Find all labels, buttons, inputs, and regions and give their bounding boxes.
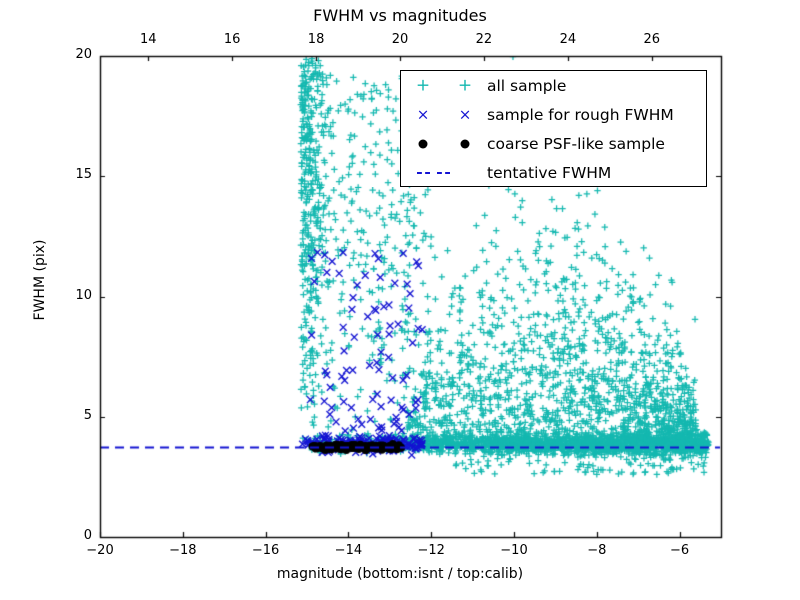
y-axis-label: FWHM (pix) [32,180,48,380]
dashed-line-icon [417,172,430,174]
x-tick-label-top: 22 [444,32,524,47]
x-axis-label: magnitude (bottom:isnt / top:calib) [0,566,800,582]
legend-swatch-tentative-fwhm [401,158,487,187]
cross-icon: × [417,107,430,122]
dot-icon [461,139,470,148]
x-tick-label-top: 20 [360,32,440,47]
y-tick-label: 10 [34,288,92,303]
plus-icon: + [416,77,430,94]
legend-label: tentative FWHM [487,164,611,182]
x-tick-label-top: 24 [528,32,608,47]
x-tick-label-bottom: −14 [308,543,388,558]
x-tick-label-bottom: −8 [557,543,637,558]
x-tick-label-top: 18 [276,32,356,47]
page-title: FWHM vs magnitudes [0,6,800,25]
x-tick-label-bottom: −10 [474,543,554,558]
legend-item-rough-fwhm[interactable]: × × sample for rough FWHM [401,100,706,129]
y-tick-label: 0 [34,528,92,543]
y-tick-label: 5 [34,408,92,423]
legend-swatch-all-sample: + + [401,71,487,100]
legend-swatch-rough-fwhm: × × [401,100,487,129]
legend-item-coarse-psf[interactable]: coarse PSF-like sample [401,129,706,158]
x-tick-label-bottom: −16 [226,543,306,558]
y-tick-label: 15 [34,167,92,182]
legend-swatch-coarse-psf [401,129,487,158]
x-tick-label-bottom: −20 [60,543,140,558]
legend-item-tentative-fwhm[interactable]: tentative FWHM [401,158,706,187]
plus-icon: + [458,77,472,94]
x-tick-label-bottom: −18 [143,543,223,558]
dashed-line-icon [437,172,450,174]
cross-icon: × [459,107,472,122]
dot-icon [419,139,428,148]
y-tick-label: 20 [34,47,92,62]
chart-page: FWHM vs magnitudes magnitude (bottom:isn… [0,0,800,600]
x-tick-label-bottom: −6 [640,543,720,558]
legend-label: sample for rough FWHM [487,106,674,124]
x-tick-label-top: 26 [612,32,692,47]
legend: + + all sample × × sample for rough FWHM… [400,70,707,187]
x-tick-label-top: 14 [108,32,188,47]
x-tick-label-top: 16 [192,32,272,47]
legend-item-all-sample[interactable]: + + all sample [401,71,706,100]
legend-label: coarse PSF-like sample [487,135,665,153]
x-tick-label-bottom: −12 [391,543,471,558]
legend-label: all sample [487,77,566,95]
